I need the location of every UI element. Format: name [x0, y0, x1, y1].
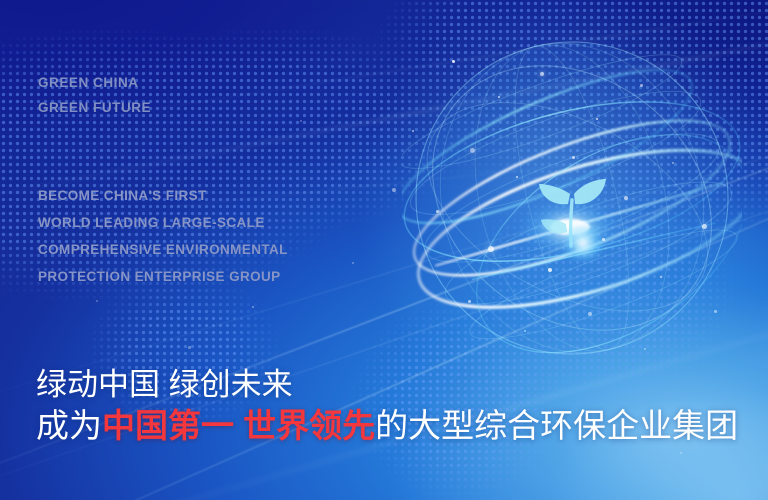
particle	[680, 452, 682, 454]
particle	[468, 300, 471, 303]
particle	[436, 210, 439, 213]
headline-chinese: 绿动中国 绿创未来 成为中国第一 世界领先的大型综合环保企业集团	[36, 366, 738, 448]
slogan-line: GREEN FUTURE	[38, 95, 151, 120]
headline-accent-china-first: 中国第一	[102, 407, 234, 444]
slogan-line: PROTECTION ENTERPRISE GROUP	[38, 263, 288, 290]
headline-prefix: 成为	[36, 407, 102, 444]
particle	[548, 268, 552, 272]
particle	[602, 238, 605, 241]
slogan-english-body: BECOME CHINA'S FIRST WORLD LEADING LARGE…	[38, 182, 288, 290]
particle	[412, 130, 414, 132]
slogan-line: COMPREHENSIVE ENVIRONMENTAL	[38, 236, 288, 263]
particle	[702, 224, 707, 229]
slogan-line: BECOME CHINA'S FIRST	[38, 182, 288, 209]
particle	[624, 196, 628, 200]
slogan-english-top: GREEN CHINA GREEN FUTURE	[38, 70, 151, 120]
particle	[644, 348, 646, 350]
particle	[596, 118, 598, 120]
slogan-line: WORLD LEADING LARGE-SCALE	[38, 209, 288, 236]
particle	[452, 60, 455, 63]
promotional-banner: GREEN CHINA GREEN FUTURE BECOME CHINA'S …	[0, 0, 768, 500]
particle	[392, 188, 396, 192]
particle	[188, 346, 191, 349]
slogan-line: GREEN CHINA	[38, 70, 151, 95]
particle	[498, 96, 500, 98]
particle	[672, 162, 674, 164]
particle	[588, 312, 592, 316]
headline-suffix: 的大型综合环保企业集团	[375, 407, 738, 444]
particle	[640, 84, 643, 87]
particle	[524, 330, 526, 332]
headline-accent-world-leading: 世界领先	[243, 407, 375, 444]
particle	[96, 300, 98, 302]
particle	[540, 72, 544, 76]
particle	[300, 120, 302, 122]
headline-accent-gap	[234, 407, 243, 444]
particle	[352, 262, 354, 264]
headline-line-2: 成为中国第一 世界领先的大型综合环保企业集团	[36, 404, 738, 448]
particle	[660, 276, 662, 278]
particle	[572, 156, 575, 159]
headline-line-1: 绿动中国 绿创未来	[36, 366, 738, 404]
particle	[516, 176, 518, 178]
particle	[488, 246, 494, 252]
particle	[714, 310, 717, 313]
particle	[470, 148, 475, 153]
particle	[252, 306, 254, 308]
